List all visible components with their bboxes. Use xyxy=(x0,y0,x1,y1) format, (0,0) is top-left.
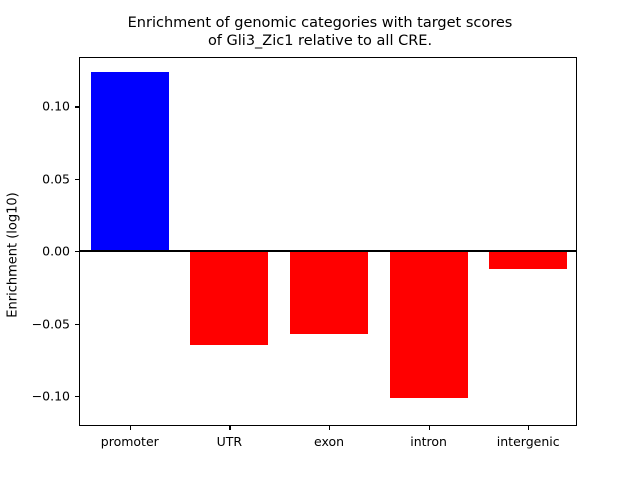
y-tick xyxy=(75,179,80,180)
y-tick xyxy=(75,396,80,397)
y-tick-label: 0.00 xyxy=(42,244,70,259)
chart-title: Enrichment of genomic categories with ta… xyxy=(0,14,640,50)
y-tick xyxy=(75,106,80,107)
x-tick-label-intergenic: intergenic xyxy=(497,434,560,449)
bar-promoter xyxy=(91,72,169,251)
y-tick-label: −0.05 xyxy=(32,316,70,331)
x-tick xyxy=(429,425,430,430)
x-tick-label-promoter: promoter xyxy=(101,434,159,449)
bar-exon xyxy=(290,251,368,333)
y-tick xyxy=(75,324,80,325)
x-tick xyxy=(229,425,230,430)
y-axis-label: Enrichment (log10) xyxy=(1,71,27,440)
x-tick xyxy=(329,425,330,430)
x-tick-label-intron: intron xyxy=(410,434,447,449)
x-tick-label-UTR: UTR xyxy=(217,434,242,449)
bar-chart-figure: Enrichment of genomic categories with ta… xyxy=(0,0,640,480)
bar-UTR xyxy=(190,251,268,344)
y-tick-label: 0.05 xyxy=(42,171,70,186)
zero-baseline xyxy=(80,250,576,252)
plot-area: 0.100.050.00−0.05−0.10 promoterUTRexonin… xyxy=(79,57,577,426)
x-tick-label-exon: exon xyxy=(314,434,344,449)
bar-intergenic xyxy=(489,251,567,269)
y-tick-label: −0.10 xyxy=(32,388,70,403)
x-tick xyxy=(130,425,131,430)
x-tick xyxy=(528,425,529,430)
bar-intron xyxy=(390,251,468,398)
y-tick-label: 0.10 xyxy=(42,99,70,114)
